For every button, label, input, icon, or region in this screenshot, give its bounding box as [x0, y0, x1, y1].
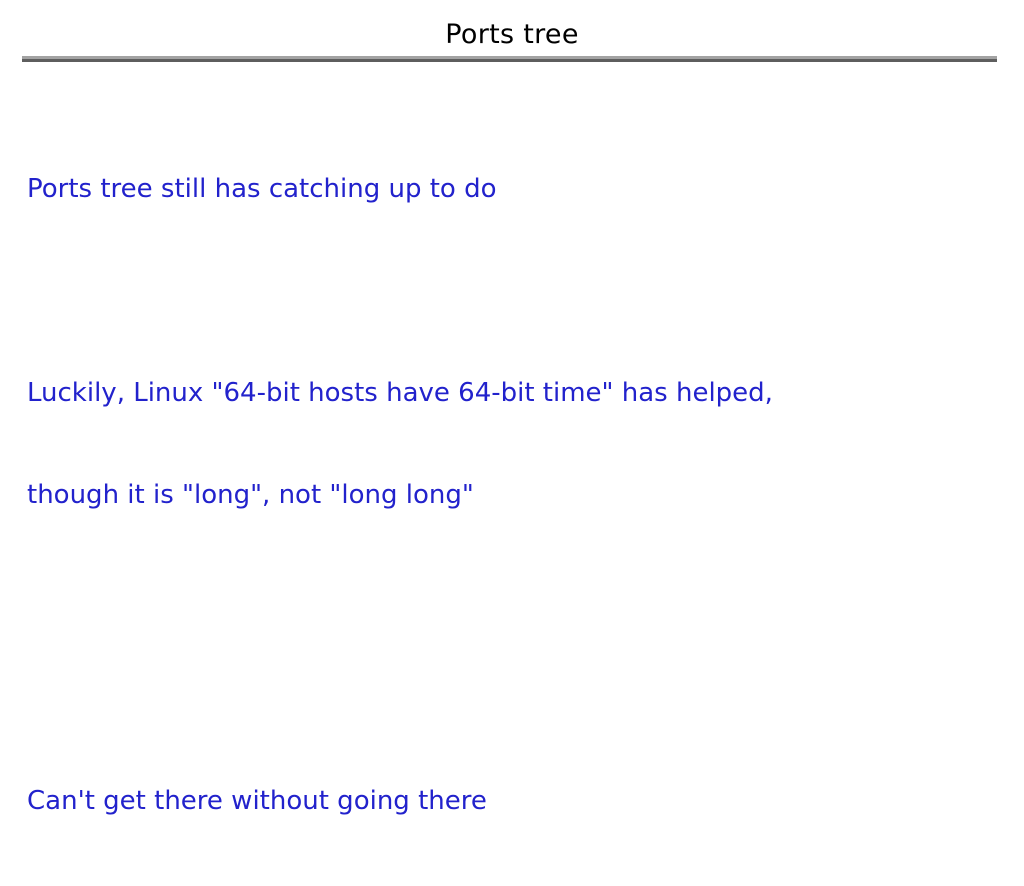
body-spacer [27, 274, 997, 308]
body-spacer [27, 614, 997, 648]
body-spacer [27, 648, 997, 682]
body-spacer [27, 682, 997, 716]
body-line: Can't get there without going there [27, 784, 997, 818]
body-line: Ports tree still has catching up to do [27, 172, 997, 206]
body-paragraph-3: Can't get there without going there [27, 716, 997, 886]
body-line: though it is "long", not "long long" [27, 478, 997, 512]
body-paragraph-1: Ports tree still has catching up to do [27, 104, 997, 274]
body-paragraph-2: Luckily, Linux "64-bit hosts have 64-bit… [27, 308, 997, 580]
title-divider-rule [22, 56, 997, 62]
slide-header: Ports tree [0, 0, 1024, 66]
body-spacer [27, 580, 997, 614]
slide-body: Ports tree still has catching up to do L… [27, 104, 997, 886]
divider-shadow [22, 59, 997, 62]
page-title: Ports tree [0, 19, 1024, 51]
body-line: Luckily, Linux "64-bit hosts have 64-bit… [27, 376, 997, 410]
presentation-slide: Ports tree Ports tree still has catching… [0, 0, 1024, 768]
